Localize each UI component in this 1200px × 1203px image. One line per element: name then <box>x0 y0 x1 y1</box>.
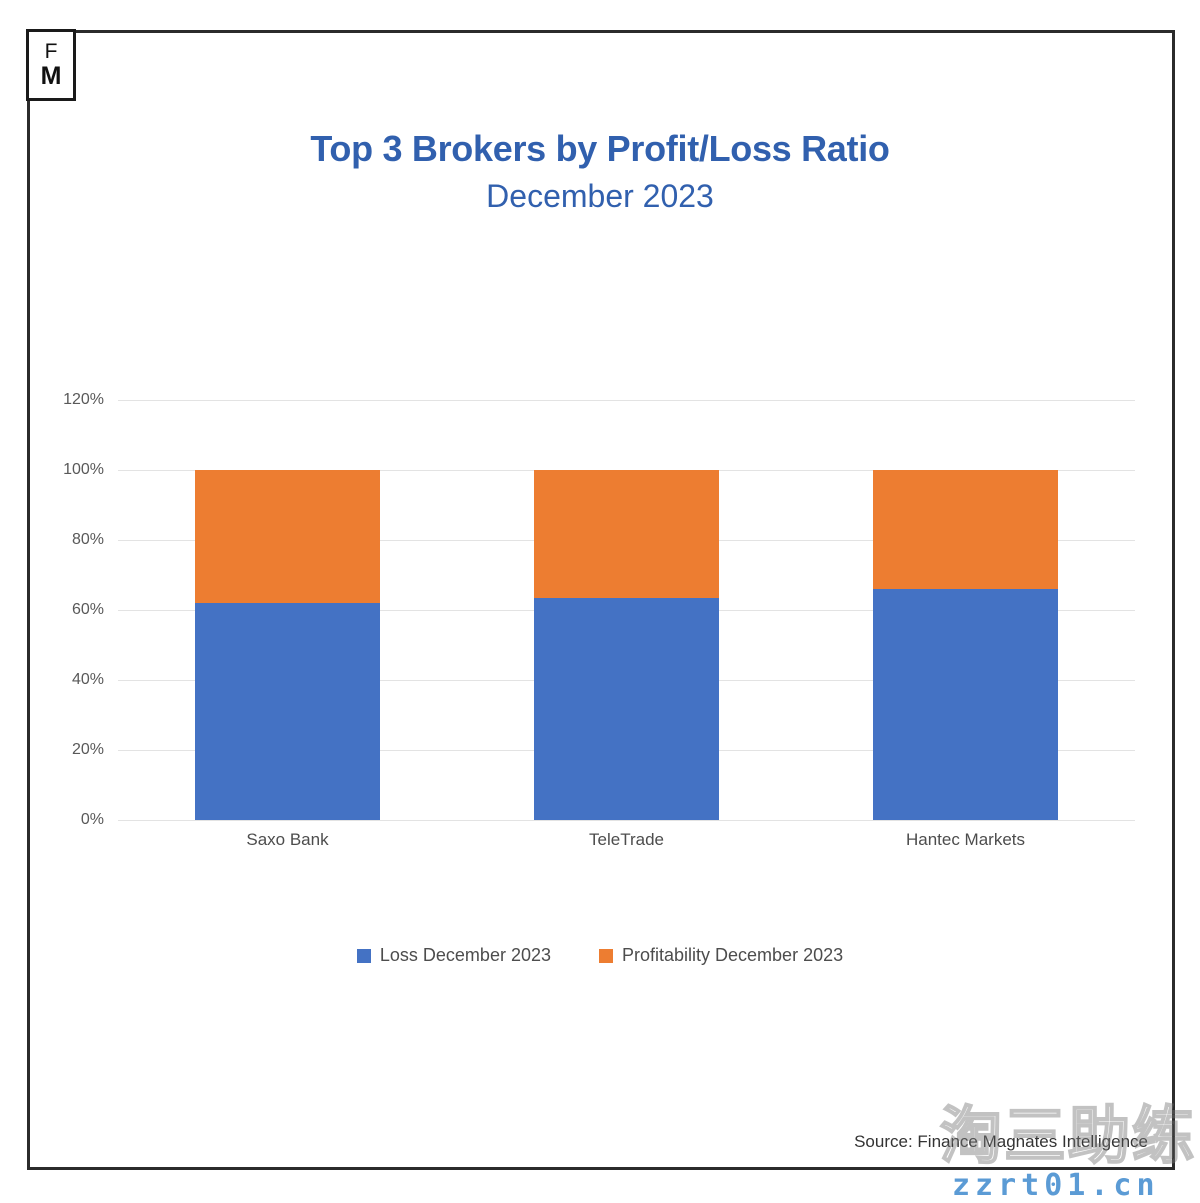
bar-column[interactable] <box>873 400 1058 820</box>
y-tick-label: 80% <box>14 531 104 549</box>
logo-letter-f: F <box>45 41 58 62</box>
logo-letter-m: M <box>41 64 62 89</box>
legend-item[interactable]: Loss December 2023 <box>357 945 551 966</box>
bar-segment[interactable] <box>195 603 380 820</box>
bar-column[interactable] <box>195 400 380 820</box>
legend-label: Loss December 2023 <box>380 945 551 966</box>
y-tick-label: 60% <box>14 601 104 619</box>
legend-item[interactable]: Profitability December 2023 <box>599 945 843 966</box>
y-tick-label: 120% <box>14 391 104 409</box>
legend-label: Profitability December 2023 <box>622 945 843 966</box>
y-tick-label: 0% <box>14 811 104 829</box>
legend-swatch-icon <box>599 949 613 963</box>
title-block: Top 3 Brokers by Profit/Loss Ratio Decem… <box>0 128 1200 216</box>
y-tick-label: 100% <box>14 461 104 479</box>
bar-segment[interactable] <box>534 470 719 598</box>
chart-legend: Loss December 2023Profitability December… <box>0 945 1200 966</box>
bar-segment[interactable] <box>534 598 719 820</box>
x-category-label: TeleTrade <box>457 830 796 850</box>
chart-title: Top 3 Brokers by Profit/Loss Ratio <box>0 128 1200 169</box>
plot-area <box>118 400 1135 820</box>
gridline <box>118 820 1135 821</box>
source-caption: Source: Finance Magnates Intelligence <box>854 1132 1148 1152</box>
bar-segment[interactable] <box>873 589 1058 820</box>
bar-column[interactable] <box>534 400 719 820</box>
y-tick-label: 20% <box>14 741 104 759</box>
x-category-label: Saxo Bank <box>118 830 457 850</box>
chart-subtitle: December 2023 <box>0 177 1200 215</box>
bar-segment[interactable] <box>195 470 380 603</box>
finance-magnates-logo: F M <box>26 29 76 101</box>
legend-swatch-icon <box>357 949 371 963</box>
bar-segment[interactable] <box>873 470 1058 589</box>
x-category-label: Hantec Markets <box>796 830 1135 850</box>
watermark-url-text: zzrt01.cn <box>952 1168 1160 1203</box>
y-tick-label: 40% <box>14 671 104 689</box>
y-axis: 0%20%40%60%80%100%120% <box>0 400 118 820</box>
